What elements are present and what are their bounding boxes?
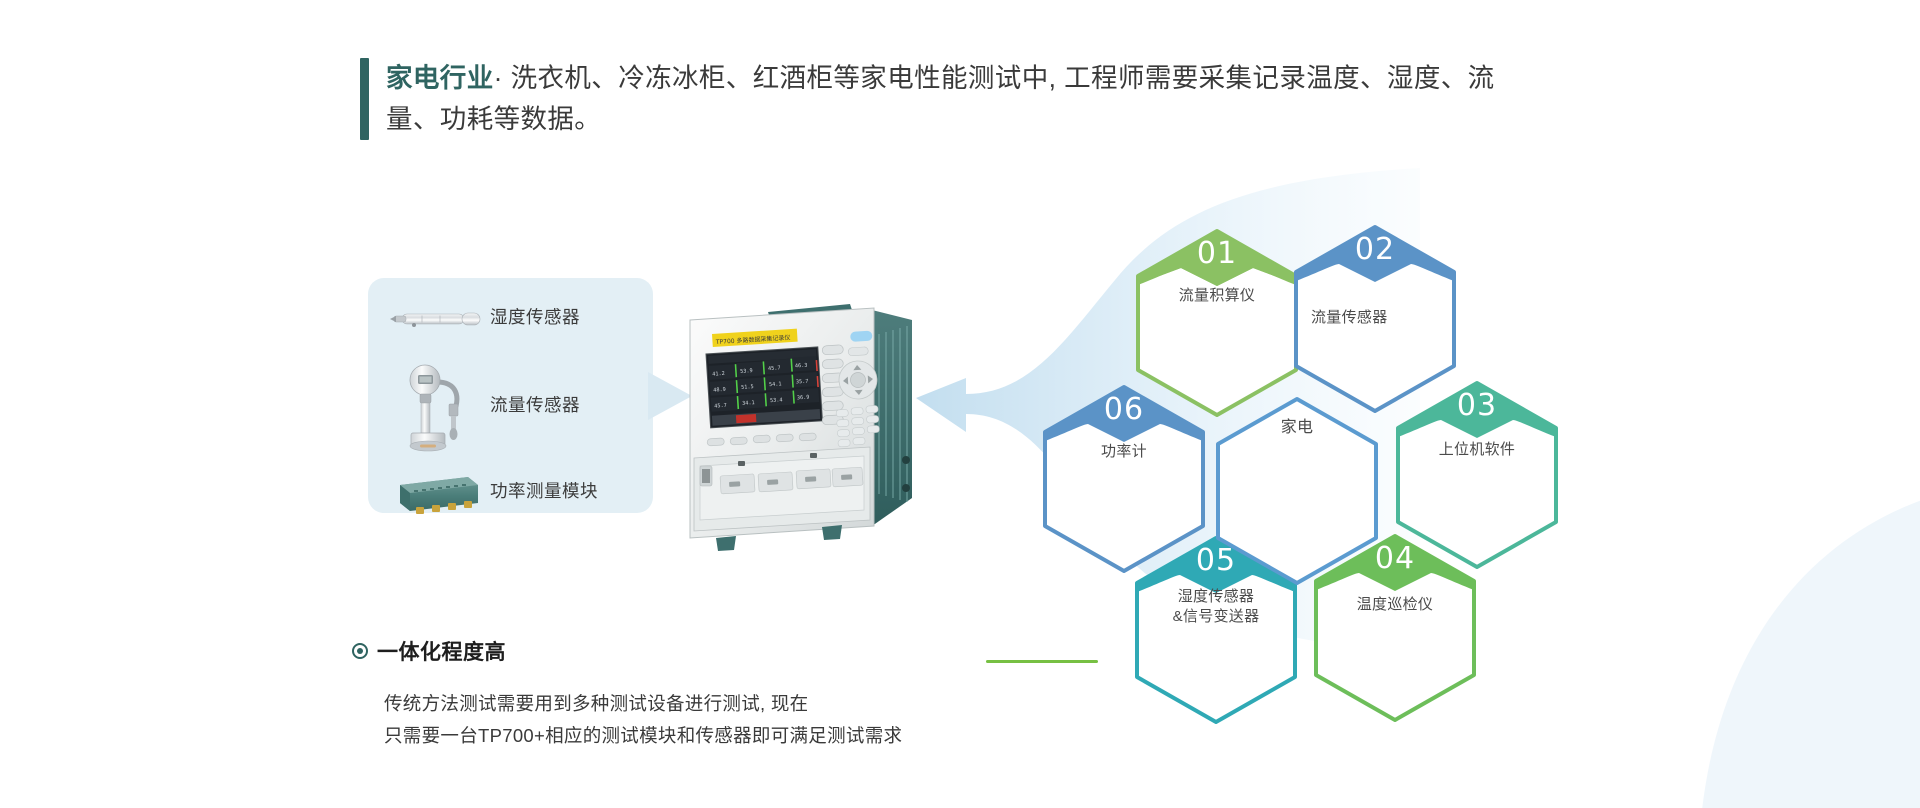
hexagon-06-power-meter[interactable]: 06 功率计 POWER METER 250.750.50 4.20140.02 xyxy=(1040,384,1208,574)
heading-rest: · 洗衣机、冷冻冰柜、红酒柜等家电性能测试中, 工程师需要采集记录温度、湿度、流… xyxy=(386,63,1495,134)
sensor-label-power: 功率测量模块 xyxy=(490,478,598,508)
feature-title: 一体化程度高 xyxy=(377,636,506,666)
svg-text:45.7: 45.7 xyxy=(714,403,727,410)
sensor-row-power: 功率测量模块 xyxy=(382,462,647,524)
svg-text:41.2: 41.2 xyxy=(712,371,725,378)
svg-text:35.7: 35.7 xyxy=(796,379,809,386)
sensor-label-flow: 流量传感器 xyxy=(490,392,580,422)
svg-text:36.9: 36.9 xyxy=(797,395,810,402)
feature-block: 一体化程度高 传统方法测试需要用到多种测试设备进行测试, 现在 只需要一台TP7… xyxy=(352,636,902,752)
hexagon-01-number: 01 xyxy=(1133,236,1301,271)
hexagon-06-number: 06 xyxy=(1040,392,1208,427)
feature-line-1: 传统方法测试需要用到多种测试设备进行测试, 现在 xyxy=(384,688,902,720)
svg-text:54.1: 54.1 xyxy=(769,381,782,388)
hexagon-05-label: 湿度传感器 &信号变送器 xyxy=(1132,587,1300,627)
heading-highlight: 家电行业 xyxy=(386,63,494,93)
svg-text:45.7: 45.7 xyxy=(768,365,781,372)
page-heading: 家电行业· 洗衣机、冷冻冰柜、红酒柜等家电性能测试中, 工程师需要采集记录温度、… xyxy=(360,58,1540,140)
heading-accent-bar xyxy=(360,58,369,140)
power-module-icon xyxy=(382,469,490,517)
feature-body: 传统方法测试需要用到多种测试设备进行测试, 现在 只需要一台TP700+相应的测… xyxy=(384,688,902,752)
feature-line-2: 只需要一台TP700+相应的测试模块和传感器即可满足测试需求 xyxy=(384,720,902,752)
sensor-row-flow: 流量传感器 xyxy=(382,358,647,456)
hexagon-03-number: 03 xyxy=(1393,388,1561,423)
hexagon-02-label: 流量传感器 xyxy=(1291,308,1459,328)
hexagon-02-number: 02 xyxy=(1291,232,1459,267)
hexagon-center-appliance[interactable]: 家电 88:88 xyxy=(1213,396,1381,586)
hexagon-06-label: 功率计 xyxy=(1040,442,1208,462)
heading-text: 家电行业· 洗衣机、冷冻冰柜、红酒柜等家电性能测试中, 工程师需要采集记录温度、… xyxy=(386,58,1540,140)
corner-swoosh-decoration xyxy=(1592,480,1920,808)
svg-text:46.3: 46.3 xyxy=(795,363,808,370)
bullet-dot-icon xyxy=(352,643,368,659)
hexagon-center-label: 家电 xyxy=(1213,418,1381,438)
humidity-probe-icon xyxy=(382,306,490,332)
hexagon-03-label: 上位机软件 xyxy=(1393,440,1561,460)
svg-text:53.9: 53.9 xyxy=(740,368,753,375)
sensor-label-humidity: 湿度传感器 xyxy=(490,304,580,334)
svg-text:34.1: 34.1 xyxy=(742,400,755,407)
page-root: 家电行业· 洗衣机、冷冻冰柜、红酒柜等家电性能测试中, 工程师需要采集记录温度、… xyxy=(0,0,1920,808)
flow-sensor-icon xyxy=(382,360,490,454)
feature-title-row: 一体化程度高 xyxy=(352,636,902,666)
svg-text:48.9: 48.9 xyxy=(713,387,726,394)
sensor-row-humidity: 湿度传感器 xyxy=(382,290,647,348)
hexagon-01-label: 流量积算仪 xyxy=(1133,286,1301,306)
svg-text:53.4: 53.4 xyxy=(770,397,783,404)
hexagon-04-label: 温度巡检仪 xyxy=(1311,595,1479,615)
tp700-data-logger: TP700 多路数据采集记录仪 41.253.945.746.3 48.951.… xyxy=(672,298,942,553)
svg-text:51.5: 51.5 xyxy=(741,384,754,391)
